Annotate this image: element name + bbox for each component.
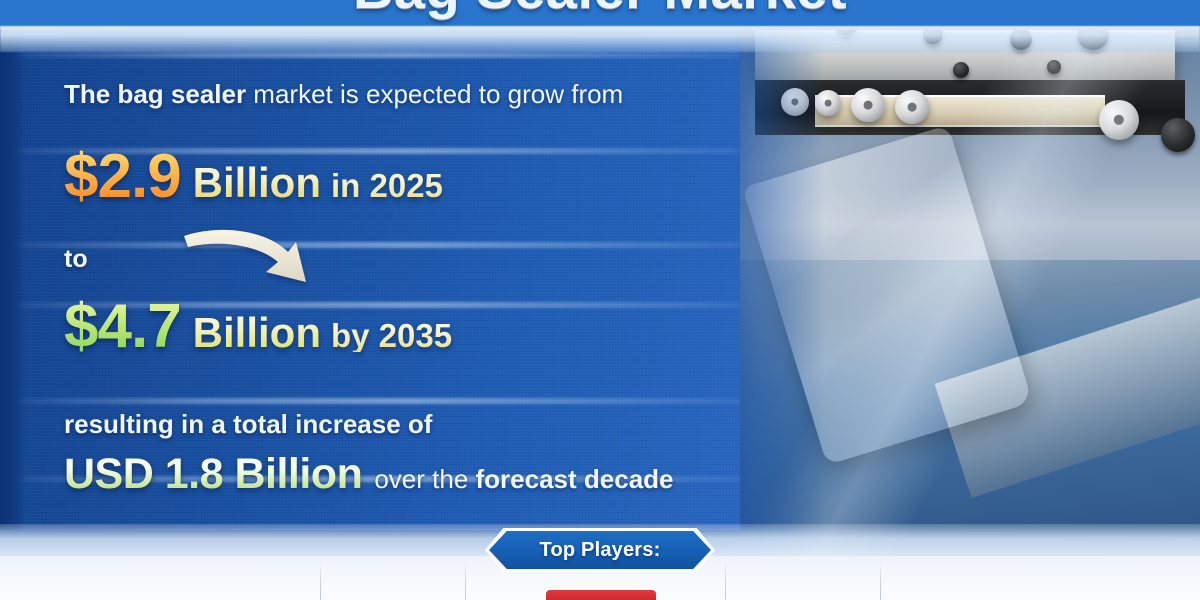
panel-left-edge — [0, 30, 26, 530]
result-lead-line: resulting in a total increase of — [64, 409, 432, 440]
photo-knob — [1047, 60, 1061, 74]
to-amount: $4.7 — [64, 296, 181, 358]
curved-down-right-arrow-icon — [180, 226, 330, 293]
from-value-row: $2.9 Billion in 2025 — [64, 146, 443, 208]
intro-regular-text: market is expected to grow from — [246, 79, 623, 109]
bag-sealing-machine-photo — [695, 0, 1200, 560]
top-players-tag[interactable]: Top Players: — [489, 531, 711, 569]
from-amount: $2.9 — [64, 146, 181, 208]
panel-light-streak — [0, 52, 740, 58]
to-value-row: $4.7 Billion by 2035 — [64, 296, 452, 358]
connector-to: to — [64, 245, 88, 274]
to-year: by 2035 — [331, 319, 452, 352]
photo-knob — [953, 62, 969, 78]
bottom-divider — [880, 560, 881, 600]
photo-roller — [851, 88, 885, 122]
from-year: in 2025 — [331, 169, 443, 202]
page-title: Bag Sealer Market — [353, 0, 847, 21]
photo-roller — [895, 90, 929, 124]
from-unit: Billion — [193, 162, 321, 204]
bottom-divider — [725, 560, 726, 600]
total-increase-tail: over the forecast decade — [374, 465, 673, 494]
bottom-divider — [320, 560, 321, 600]
infographic-root: Bag Sealer Market The bag sealer market … — [0, 0, 1200, 600]
total-increase-amount: USD 1.8 Billion — [64, 453, 362, 496]
photo-roller — [1099, 100, 1139, 140]
photo-dial — [1161, 118, 1195, 152]
total-tail-bold: forecast decade — [476, 464, 674, 494]
panel-light-streak — [0, 242, 740, 248]
title-underglow — [0, 26, 1200, 52]
bottom-divider — [465, 560, 466, 600]
panel-light-streak — [0, 398, 740, 404]
intro-line: The bag sealer market is expected to gro… — [64, 79, 623, 110]
intro-bold-text: The bag sealer — [64, 79, 246, 109]
top-players-label: Top Players: — [540, 539, 661, 562]
total-tail-pre: over the — [374, 464, 475, 494]
to-unit: Billion — [193, 312, 321, 354]
player-logo-chip[interactable] — [546, 590, 656, 600]
total-increase-row: USD 1.8 Billion over the forecast decade — [64, 453, 674, 496]
